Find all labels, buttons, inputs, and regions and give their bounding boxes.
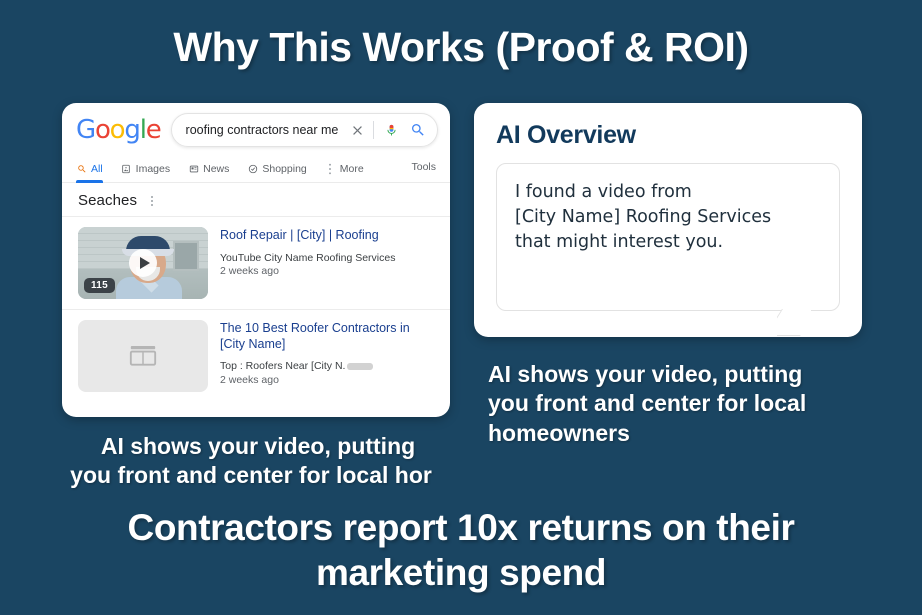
layout-icon bbox=[128, 345, 158, 368]
tab-shopping[interactable]: Shopping bbox=[247, 159, 306, 182]
result-date: 2 weeks ago bbox=[220, 265, 436, 277]
google-nav-tabs: All Images News Shopping bbox=[62, 153, 450, 183]
tab-news[interactable]: News bbox=[188, 159, 229, 182]
bottom-headline: Contractors report 10x returns on their … bbox=[0, 505, 922, 595]
result-date: 2 weeks ago bbox=[220, 374, 436, 386]
redacted-smudge bbox=[347, 363, 373, 370]
kebab-menu-icon[interactable] bbox=[151, 196, 153, 206]
logo-letter-4: g bbox=[124, 115, 139, 145]
search-input[interactable]: roofing contractors near me bbox=[186, 123, 347, 137]
tab-shopping-label: Shopping bbox=[262, 163, 306, 175]
caption-right-line-1: AI shows your video, putting bbox=[488, 360, 868, 389]
search-result-text: Roof Repair | [City] | Roofing YouTube C… bbox=[220, 227, 436, 299]
section-header-row: Seaches bbox=[62, 183, 450, 217]
ai-bubble-line-1: I found a video from bbox=[515, 180, 823, 205]
tag-icon bbox=[247, 164, 258, 175]
search-result-text: The 10 Best Roofer Contractors in [City … bbox=[220, 320, 436, 392]
result-title-link[interactable]: The 10 Best Roofer Contractors in [City … bbox=[220, 321, 436, 352]
caption-left: AI shows your video, putting you front a… bbox=[58, 432, 458, 491]
ai-bubble-line-2: [City Name] Roofing Services bbox=[515, 205, 823, 230]
google-logo: Google bbox=[76, 115, 161, 145]
ai-speech-bubble: I found a video from [City Name] Roofing… bbox=[496, 163, 840, 311]
logo-letter-1: G bbox=[76, 115, 95, 145]
slide-root: Why This Works (Proof & ROI) Google roof… bbox=[0, 0, 922, 615]
ai-bubble-line-3: that might interest you. bbox=[515, 230, 823, 255]
result-source: Top : Roofers Near [City N. bbox=[220, 359, 436, 374]
result-source-text: Top : Roofers Near [City N. bbox=[220, 360, 345, 372]
caption-right: AI shows your video, putting you front a… bbox=[488, 360, 868, 448]
caption-left-line-1: AI shows your video, putting bbox=[58, 432, 458, 461]
search-result-article[interactable]: The 10 Best Roofer Contractors in [City … bbox=[62, 310, 450, 402]
video-duration-badge: 115 bbox=[84, 278, 115, 293]
tab-all[interactable]: All bbox=[76, 159, 103, 182]
house-window bbox=[173, 241, 199, 271]
search-bar[interactable]: roofing contractors near me bbox=[171, 113, 438, 147]
ai-overview-title: AI Overview bbox=[496, 121, 840, 150]
logo-letter-2: o bbox=[95, 115, 110, 145]
google-topbar: Google roofing contractors near me bbox=[62, 103, 450, 153]
caption-left-line-2: you front and center for local hor bbox=[58, 461, 458, 490]
tab-more-label: More bbox=[340, 163, 364, 175]
tools-button[interactable]: Tools bbox=[411, 161, 436, 180]
image-icon bbox=[121, 164, 132, 175]
tab-news-label: News bbox=[203, 163, 229, 175]
speech-bubble-tail bbox=[777, 309, 811, 336]
result-source: YouTube City Name Roofing Services bbox=[220, 251, 436, 266]
logo-letter-3: o bbox=[110, 115, 125, 145]
magnifier-icon bbox=[76, 164, 87, 175]
play-icon[interactable] bbox=[129, 249, 157, 277]
ai-overview-card: AI Overview I found a video from [City N… bbox=[474, 103, 862, 337]
tab-images[interactable]: Images bbox=[121, 159, 170, 182]
microphone-icon[interactable] bbox=[382, 122, 400, 139]
google-search-card: Google roofing contractors near me bbox=[62, 103, 450, 417]
result-title-link[interactable]: Roof Repair | [City] | Roofing bbox=[220, 228, 436, 244]
video-thumbnail[interactable]: 115 bbox=[78, 227, 208, 299]
tab-images-label: Images bbox=[136, 163, 170, 175]
caption-right-line-2: you front and center for local bbox=[488, 389, 868, 418]
search-result-video[interactable]: 115 Roof Repair | [City] | Roofing YouTu… bbox=[62, 217, 450, 310]
page-title: Why This Works (Proof & ROI) bbox=[0, 24, 922, 71]
logo-letter-6: e bbox=[146, 115, 161, 145]
close-x-icon[interactable] bbox=[347, 123, 367, 138]
newspaper-icon bbox=[188, 164, 199, 175]
tab-all-label: All bbox=[91, 163, 103, 175]
magnifier-icon[interactable] bbox=[409, 122, 427, 138]
search-divider bbox=[373, 121, 374, 139]
section-header-label: Seaches bbox=[78, 192, 137, 209]
placeholder-layout-icon bbox=[78, 320, 208, 392]
kebab-icon bbox=[325, 164, 336, 175]
caption-right-line-3: homeowners bbox=[488, 419, 868, 448]
tab-more[interactable]: More bbox=[325, 159, 364, 182]
